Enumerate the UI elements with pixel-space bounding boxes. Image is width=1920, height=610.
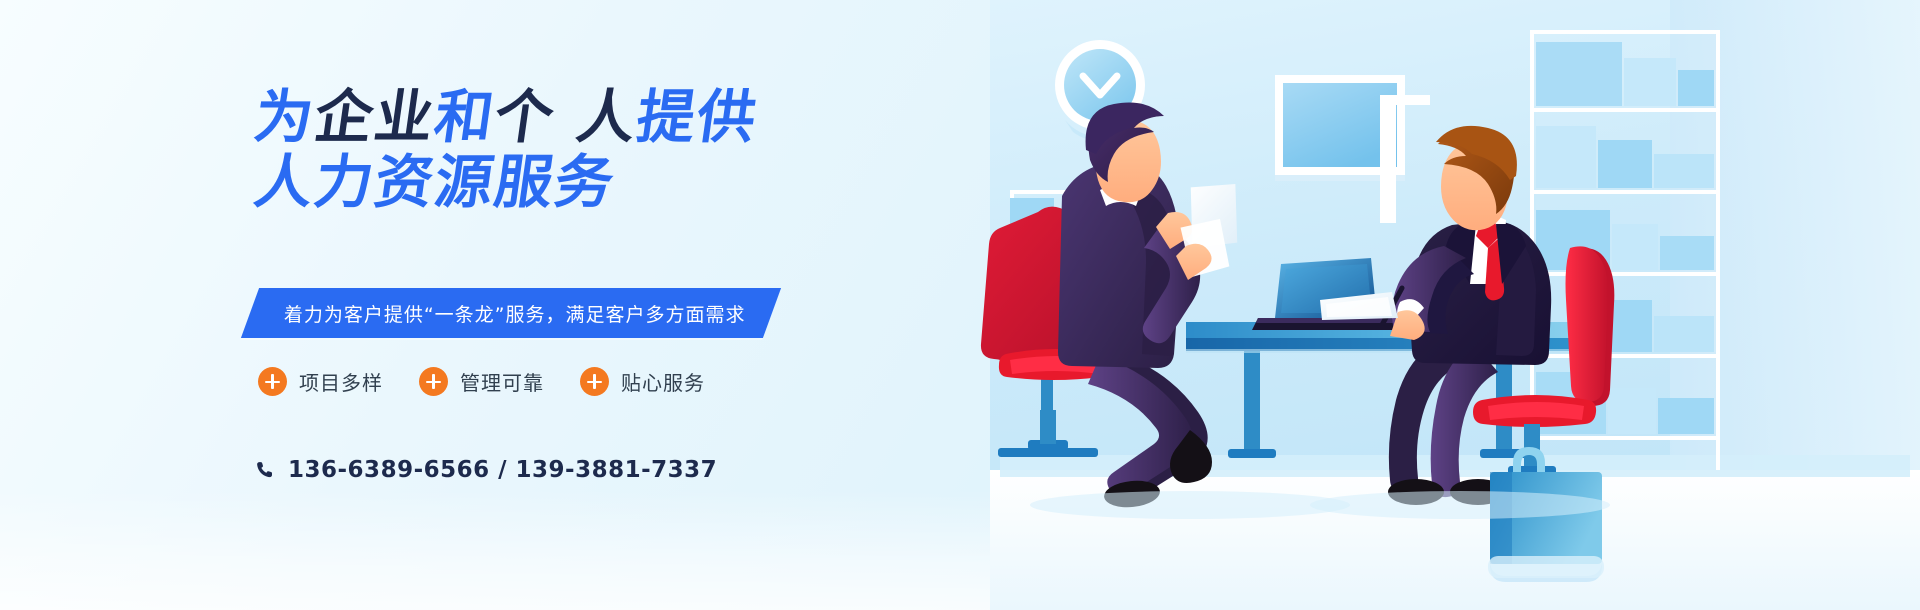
headline-seg-4: 个 人 — [491, 88, 642, 147]
headline-seg-5: 提供 — [633, 88, 761, 147]
banner-copy: 为企业和个 人提供 人力资源服务 — [255, 88, 1015, 212]
headline-seg-1: 为 — [251, 88, 319, 147]
headline-seg-3: 和 — [431, 88, 499, 147]
headline: 为企业和个 人提供 人力资源服务 — [255, 88, 1015, 212]
headline-seg-2: 企业 — [311, 88, 439, 147]
headline-line-1: 为企业和个 人提供 — [251, 88, 1019, 147]
headline-line-2: 人力资源服务 — [251, 153, 1019, 212]
hero-banner: 为企业和个 人提供 人力资源服务 着力为客户提供“一条龙”服务，满足客户多方面需… — [0, 0, 1920, 610]
